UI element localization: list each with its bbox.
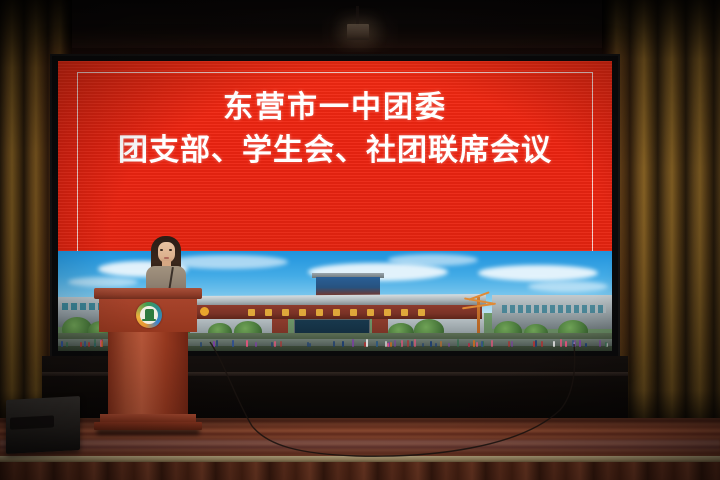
crowd-figure xyxy=(274,341,276,347)
crowd-figure xyxy=(476,342,478,347)
crowd-figure xyxy=(342,341,344,347)
crowd-figure xyxy=(376,341,378,347)
crowd-figure xyxy=(599,340,601,347)
gate-tower xyxy=(316,277,380,296)
crowd-figure xyxy=(61,341,63,347)
crowd-figure xyxy=(473,340,475,347)
crowd-figure xyxy=(255,342,257,347)
crowd-figure xyxy=(216,340,218,347)
crowd-figure xyxy=(481,341,483,347)
crowd-figure xyxy=(390,342,392,347)
crest-base-bar xyxy=(142,319,156,321)
crowd-figure xyxy=(280,341,282,347)
crowd-figure xyxy=(80,342,82,347)
crowd-figure xyxy=(553,341,555,347)
crowd-figure xyxy=(560,339,562,347)
cloud xyxy=(68,277,138,287)
crowd-figure xyxy=(511,341,513,347)
crowd-figure xyxy=(508,341,510,347)
crowd-figure xyxy=(66,342,68,347)
school-crest-icon xyxy=(136,302,162,328)
crowd-figure xyxy=(605,342,607,347)
crowd-figure xyxy=(414,339,416,347)
cloud xyxy=(478,265,598,281)
crowd-figure xyxy=(246,340,248,347)
crowd-figure xyxy=(535,340,537,347)
crowd-figure xyxy=(333,341,335,347)
ceiling-light-stem xyxy=(356,6,359,26)
crowd-figure xyxy=(307,342,309,347)
gate-school-name-characters xyxy=(190,306,482,318)
stage-floor-reflection xyxy=(0,440,720,454)
stage-apron xyxy=(0,462,720,480)
cloud xyxy=(528,281,608,292)
crowd-figure xyxy=(430,341,432,347)
crowd-figure xyxy=(232,340,234,347)
slide-title-block: 东营市一中团委 团支部、学生会、社团联席会议 xyxy=(58,91,612,167)
crowd-figure xyxy=(213,341,215,347)
crowd-figure xyxy=(422,343,424,348)
crowd-figure xyxy=(533,341,535,347)
photo-building-right-windows xyxy=(502,305,606,313)
crowd-figure xyxy=(366,339,368,347)
auditorium-stage-scene: 东营市一中团委 团支部、学生会、社团联席会议 xyxy=(0,0,720,480)
crowd-figure xyxy=(435,343,437,348)
crowd-figure xyxy=(411,341,413,347)
podium-column xyxy=(108,331,188,417)
crowd-figure xyxy=(394,340,396,347)
podium-base xyxy=(94,422,202,430)
crowd-figure xyxy=(468,343,470,347)
presenter-eye-right xyxy=(169,249,172,251)
floor-monitor-speaker xyxy=(6,396,80,454)
crowd-figure xyxy=(585,343,587,347)
podium-lectern xyxy=(94,288,202,438)
crowd-figure xyxy=(440,341,442,347)
crowd-figure xyxy=(88,342,90,347)
cloud xyxy=(388,254,478,266)
slide-title-line-1: 东营市一中团委 xyxy=(58,91,612,124)
crowd-figure xyxy=(387,343,389,347)
crowd-figure xyxy=(271,342,273,347)
presenter-face xyxy=(158,242,175,263)
presenter-eye-left xyxy=(160,249,163,251)
crowd-figure xyxy=(541,341,543,347)
crowd-figure xyxy=(401,340,403,347)
presenter-mouth xyxy=(164,257,169,259)
crowd-figure xyxy=(407,340,409,347)
speaker-grill xyxy=(10,415,54,429)
crowd-figure xyxy=(309,343,311,347)
ceiling-fixture-icon xyxy=(347,24,369,40)
presentation-slide: 东营市一中团委 团支部、学生会、社团联席会议 xyxy=(58,61,612,251)
crowd-figure xyxy=(574,340,576,348)
crowd-figure xyxy=(491,340,493,347)
crowd-figure xyxy=(572,340,574,347)
crowd-figure xyxy=(565,341,567,347)
crowd-figure xyxy=(352,339,354,347)
podium-desktop xyxy=(94,288,202,299)
crowd-figure xyxy=(448,343,450,347)
slide-title-line-2: 团支部、学生会、社团联席会议 xyxy=(58,134,612,167)
crowd-figure xyxy=(84,341,86,347)
crowd-figure xyxy=(457,339,459,347)
crowd-figure xyxy=(579,340,581,347)
